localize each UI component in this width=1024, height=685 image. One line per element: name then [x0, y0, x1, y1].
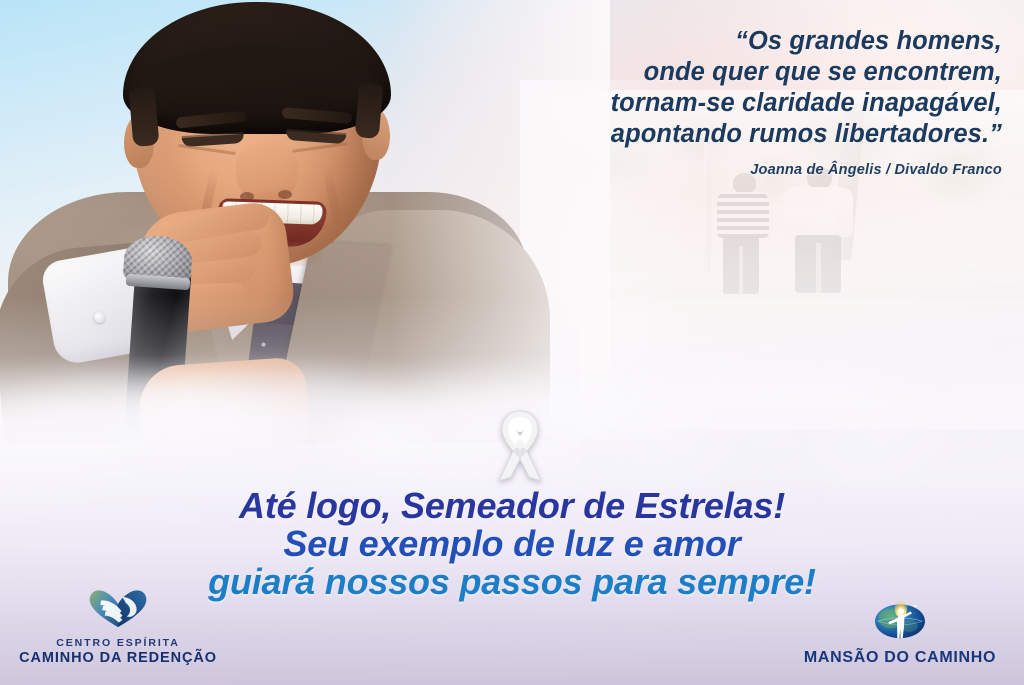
logo-mansao-do-caminho-label: MANSÃO DO CAMINHO: [790, 648, 1010, 667]
quote-line-2: onde quer que se encontrem,: [442, 57, 1002, 88]
nostril-right: [278, 190, 292, 199]
quote-line-3: tornam-se claridade inapagável,: [442, 88, 1002, 119]
headline-line-1: Até logo, Semeador de Estrelas!: [0, 487, 1024, 525]
quote-author: Joanna de Ângelis / Divaldo Franco: [442, 162, 1002, 178]
logo-mansao-do-caminho[interactable]: MANSÃO DO CAMINHO: [790, 599, 1010, 667]
headline-block: Até logo, Semeador de Estrelas! Seu exem…: [0, 487, 1024, 601]
quote-block: “Os grandes homens, onde quer que se enc…: [442, 26, 1002, 178]
logo-centro-espirita[interactable]: CENTRO ESPÍRITA CAMINHO DA REDENÇÃO: [18, 588, 218, 667]
sideburn-left: [129, 87, 160, 147]
heart-hands-icon: [18, 588, 218, 634]
logo-centro-espirita-line2: CAMINHO DA REDENÇÃO: [18, 650, 218, 667]
quote-line-4: apontando rumos libertadores.”: [442, 119, 1002, 150]
headline-line-2: Seu exemplo de luz e amor: [0, 525, 1024, 563]
white-awareness-ribbon: [489, 409, 551, 483]
globe-figure-icon: [790, 599, 1010, 645]
logo-centro-espirita-line1: CENTRO ESPÍRITA: [18, 637, 218, 650]
quote-line-1: “Os grandes homens,: [442, 26, 1002, 57]
sideburn-right: [355, 83, 384, 139]
memorial-tribute-poster: “Os grandes homens, onde quer que se enc…: [0, 0, 1024, 685]
